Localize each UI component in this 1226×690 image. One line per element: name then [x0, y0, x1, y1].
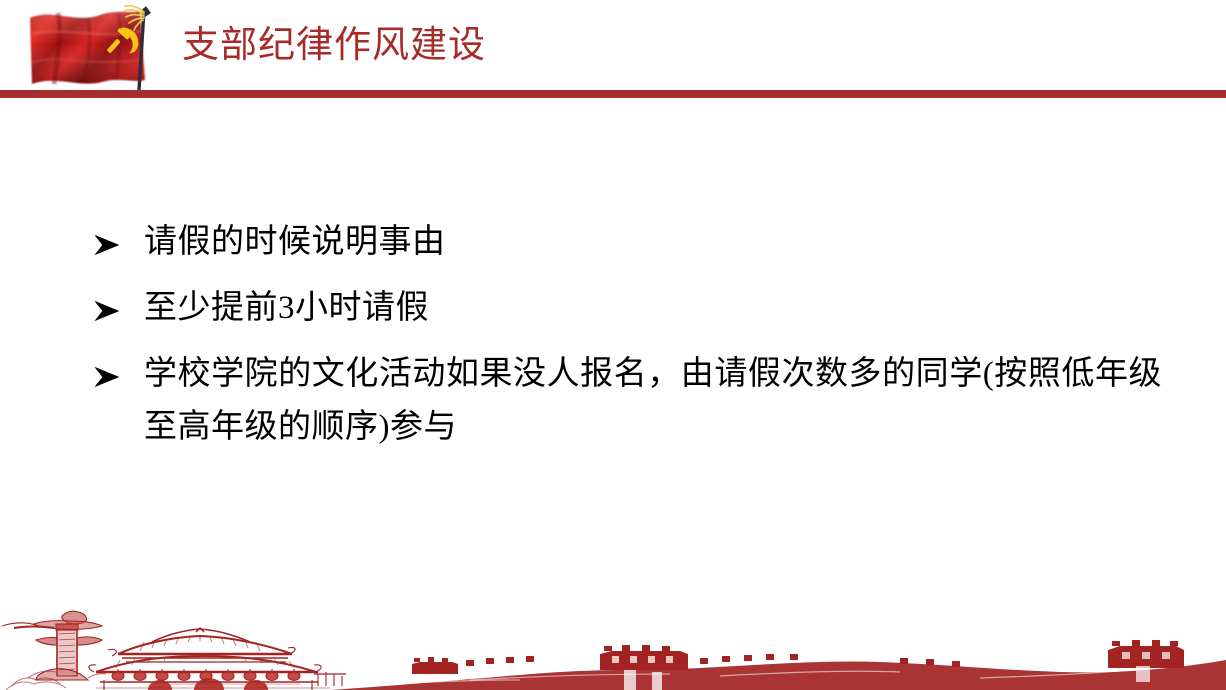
party-flag-icon — [18, 4, 178, 94]
red-lanterns — [112, 669, 300, 680]
arrow-bullet-icon — [94, 282, 134, 335]
arrow-bullet-icon — [94, 348, 134, 401]
list-item-text: 至少提前3小时请假 — [144, 290, 429, 326]
slide-header: 支部纪律作风建设 — [0, 0, 1226, 98]
header-divider — [0, 90, 1226, 98]
page-title: 支部纪律作风建设 — [182, 22, 486, 68]
slide-body: 请假的时候说明事由 至少提前3小时请假 — [0, 98, 1226, 598]
huabiao-column — [2, 611, 106, 680]
arrow-bullet-icon — [94, 216, 134, 269]
list-item: 至少提前3小时请假 — [92, 282, 1162, 335]
list-item-text: 学校学院的文化活动如果没人报名，由请假次数多的同学(按照低年级至高年级的顺序)参… — [144, 356, 1162, 445]
list-item-text: 请假的时候说明事由 — [144, 224, 446, 260]
rules-bullet-list: 请假的时候说明事由 至少提前3小时请假 — [92, 216, 1162, 454]
list-item: 请假的时候说明事由 — [92, 216, 1162, 269]
tiananmen-gate — [89, 628, 346, 690]
tiananmen-great-wall-illustration — [0, 594, 1226, 690]
slide-canvas: 支部纪律作风建设 请假的时候说明事由 — [0, 0, 1226, 690]
list-item: 学校学院的文化活动如果没人报名，由请假次数多的同学(按照低年级至高年级的顺序)参… — [92, 348, 1162, 454]
great-wall — [330, 640, 1226, 690]
